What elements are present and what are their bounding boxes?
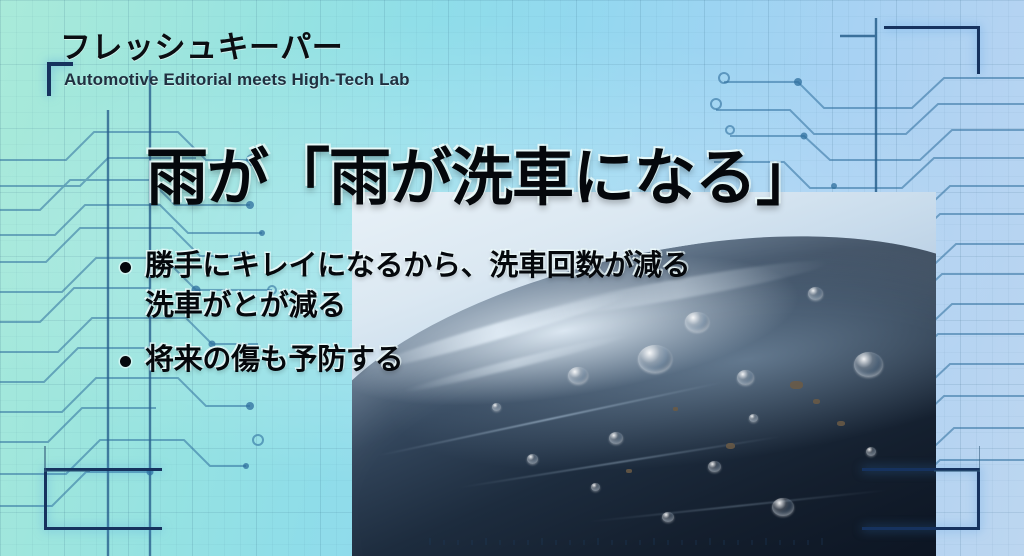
dirt-speck bbox=[837, 421, 845, 426]
water-droplet bbox=[662, 512, 674, 522]
dirt-speck bbox=[673, 407, 678, 411]
corner-bracket-bottom-right bbox=[862, 468, 980, 530]
dirt-speck bbox=[726, 443, 735, 449]
corner-bracket-bottom-left bbox=[44, 468, 162, 530]
dirt-speck bbox=[790, 381, 803, 389]
list-item: 将来の傷も予防する bbox=[120, 340, 740, 380]
bullet-text: 勝手にキレイになるから、洗車回数が減る 洗車がとが減る bbox=[145, 246, 690, 326]
hairline-tick bbox=[44, 470, 90, 472]
bullet-line: 将来の傷も予防する bbox=[145, 340, 403, 380]
brand-title: フレッシュキーパー bbox=[60, 22, 343, 67]
bullet-line: 洗車がとが減る bbox=[145, 286, 690, 326]
water-droplet bbox=[866, 447, 876, 456]
hairline-tick bbox=[979, 446, 981, 472]
slide-headline: 雨が「雨が洗車になる」 bbox=[146, 146, 817, 213]
list-item: 勝手にキレイになるから、洗車回数が減る 洗車がとが減る bbox=[120, 246, 740, 326]
hairline-tick bbox=[44, 446, 46, 472]
presentation-slide: フレッシュキーパー Automotive Editorial meets Hig… bbox=[0, 0, 1024, 556]
bullet-dot-icon bbox=[120, 356, 131, 367]
dirt-speck bbox=[626, 469, 632, 473]
corner-bracket-top-right bbox=[884, 26, 980, 74]
bullet-line: 勝手にキレイになるから、洗車回数が減る bbox=[145, 246, 690, 286]
bullet-dot-icon bbox=[120, 262, 131, 273]
hairline-tick bbox=[934, 470, 980, 472]
water-droplet bbox=[808, 287, 823, 300]
tagline-subtitle: Automotive Editorial meets High-Tech Lab bbox=[64, 70, 410, 90]
bullet-text: 将来の傷も予防する bbox=[145, 340, 403, 380]
bullet-list: 勝手にキレイになるから、洗車回数が減る 洗車がとが減る 将来の傷も予防する bbox=[120, 246, 740, 394]
